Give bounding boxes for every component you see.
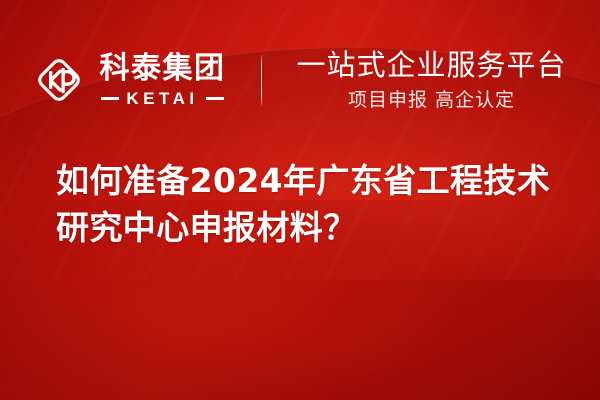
tagline-secondary: 项目申报 高企认定	[296, 91, 566, 110]
brand-lockup: 科泰集团 KETAI 一站式企业服务平台 项目申报 高企认定	[33, 51, 566, 110]
wordmark-en-row: KETAI	[99, 90, 225, 107]
wordmark: 科泰集团 KETAI	[99, 54, 225, 107]
ketai-diamond-kp-logo-icon	[33, 54, 85, 106]
brand-name-en: KETAI	[126, 90, 198, 107]
dash-rule-left-icon	[101, 97, 119, 100]
banner-header: 科泰集团 KETAI 一站式企业服务平台 项目申报 高企认定	[0, 44, 600, 116]
tagline-primary: 一站式企业服务平台	[296, 51, 566, 80]
tagline-block: 一站式企业服务平台 项目申报 高企认定	[296, 51, 566, 110]
promo-banner: 科泰集团 KETAI 一站式企业服务平台 项目申报 高企认定 如何准备2024年…	[0, 0, 600, 400]
vertical-divider	[261, 55, 262, 106]
page-title: 如何准备2024年广东省工程技术研究中心申报材料？	[56, 158, 556, 252]
dash-rule-right-icon	[206, 97, 224, 100]
brand-name-cn: 科泰集团	[99, 54, 225, 84]
